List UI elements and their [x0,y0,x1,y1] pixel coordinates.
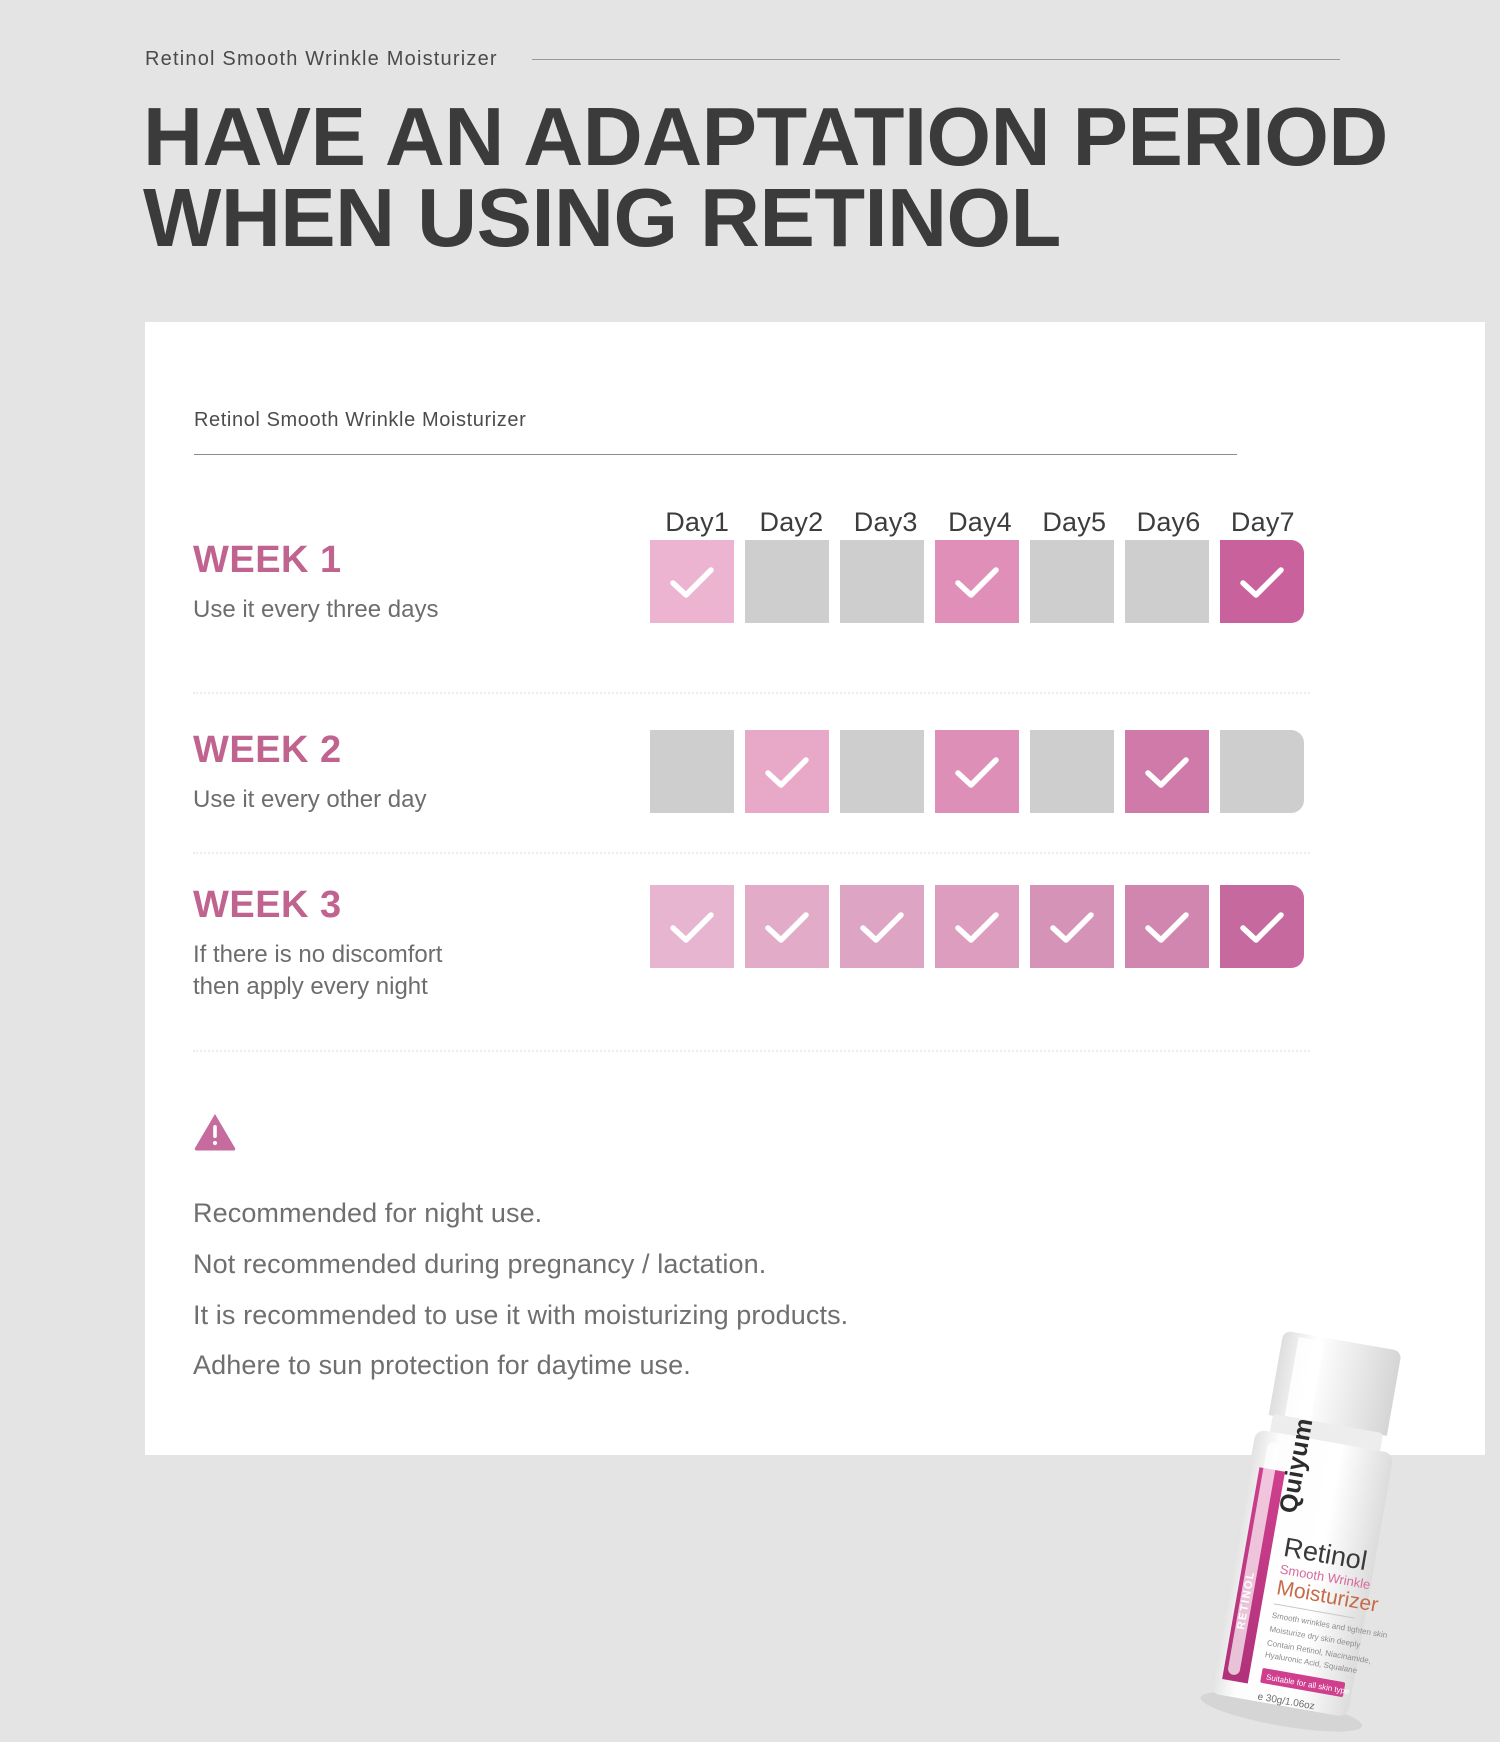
card-title: Retinol Smooth Wrinkle Moisturizer [194,409,526,432]
week-description: Use it every other day [193,784,633,816]
card-title-rule [194,454,1237,455]
svg-text:Quiyum: Quiyum [1274,1416,1318,1515]
week-description: Use it every three days [193,594,633,626]
row-divider [193,1050,1310,1052]
page-eyebrow: Retinol Smooth Wrinkle Moisturizer [145,48,1340,71]
check-icon [669,911,715,945]
check-icon [1049,911,1095,945]
svg-text:Smooth wrinkles and tighten sk: Smooth wrinkles and tighten skin [1271,1611,1388,1640]
day-cell-checked[interactable] [650,885,734,968]
day-cell-empty[interactable] [1030,540,1114,623]
week-title: WEEK 1 [193,540,633,582]
week-description: If there is no discomfort then apply eve… [193,939,633,1003]
week-label: WEEK 1Use it every three days [193,540,633,626]
check-icon [1144,911,1190,945]
day-column-header: Day1 [650,507,744,538]
day-cell-checked[interactable] [1125,885,1209,968]
day-cell-checked[interactable] [1220,885,1304,968]
svg-text:Contain Retinol, Niacinamide,: Contain Retinol, Niacinamide, [1266,1638,1371,1665]
svg-text:RETINOL: RETINOL [1235,1570,1257,1631]
check-icon [1144,756,1190,790]
check-icon [1239,911,1285,945]
row-divider [193,692,1310,694]
headline-line-2: WHEN USING RETINOL [143,177,1403,258]
svg-text:e 30g/1.06oz: e 30g/1.06oz [1257,1691,1316,1712]
check-icon [859,911,905,945]
page-title: HAVE AN ADAPTATION PERIOD WHEN USING RET… [143,96,1403,259]
day-column-header: Day4 [933,507,1027,538]
svg-text:Smooth Wrinkle: Smooth Wrinkle [1279,1561,1372,1592]
day-cell-empty[interactable] [650,730,734,813]
week-cells [650,540,1310,623]
week-title: WEEK 3 [193,885,633,927]
day-cell-empty[interactable] [1030,730,1114,813]
check-icon [764,756,810,790]
headline-line-1: HAVE AN ADAPTATION PERIOD [143,96,1403,177]
day-column-header: Day6 [1121,507,1215,538]
note-line: Not recommended during pregnancy / lacta… [193,1239,1093,1290]
day-cell-checked[interactable] [650,540,734,623]
day-cell-checked[interactable] [1125,730,1209,813]
week-label: WEEK 3If there is no discomfort then app… [193,885,633,1003]
day-cell-checked[interactable] [745,885,829,968]
day-column-header: Day7 [1216,507,1310,538]
check-icon [954,911,1000,945]
svg-text:Suitable for all skin type: Suitable for all skin type [1265,1673,1350,1697]
day-cell-empty[interactable] [1220,730,1304,813]
week-cells [650,730,1310,813]
day-cell-checked[interactable] [935,730,1019,813]
day-cell-checked[interactable] [1030,885,1114,968]
day-cell-empty[interactable] [745,540,829,623]
notes-section: Recommended for night use.Not recommende… [193,1112,1093,1391]
svg-text:Hyaluronic Acid, Squalane: Hyaluronic Acid, Squalane [1264,1650,1358,1675]
day-column-header: Day5 [1027,507,1121,538]
day-cell-checked[interactable] [745,730,829,813]
check-icon [669,566,715,600]
check-icon [1239,566,1285,600]
day-column-header: Day2 [744,507,838,538]
svg-text:Retinol: Retinol [1281,1532,1369,1576]
row-divider [193,852,1310,854]
day-column-header: Day3 [839,507,933,538]
day-cell-checked[interactable] [1220,540,1304,623]
day-cell-empty[interactable] [840,730,924,813]
day-cell-checked[interactable] [935,540,1019,623]
week-cells [650,885,1310,968]
warning-triangle-icon [193,1112,237,1152]
week-label: WEEK 2Use it every other day [193,730,633,816]
note-line: Adhere to sun protection for daytime use… [193,1340,1093,1391]
day-header-row: Day1Day2Day3Day4Day5Day6Day7 [650,507,1310,538]
check-icon [954,756,1000,790]
schedule-card: Retinol Smooth Wrinkle Moisturizer Day1D… [145,322,1485,1455]
note-line: Recommended for night use. [193,1188,1093,1239]
product-bottle-image: RETINOL Quiyum Retinol Smooth Wrinkle Mo… [1145,1322,1475,1742]
day-cell-empty[interactable] [1125,540,1209,623]
day-cell-empty[interactable] [840,540,924,623]
day-cell-checked[interactable] [840,885,924,968]
note-line: It is recommended to use it with moistur… [193,1290,1093,1341]
week-title: WEEK 2 [193,730,633,772]
svg-text:Moisturize dry skin deeply: Moisturize dry skin deeply [1269,1625,1361,1650]
eyebrow-rule [532,59,1340,60]
check-icon [764,911,810,945]
svg-text:Moisturizer: Moisturizer [1275,1576,1380,1616]
eyebrow-text: Retinol Smooth Wrinkle Moisturizer [145,48,498,71]
check-icon [954,566,1000,600]
day-cell-checked[interactable] [935,885,1019,968]
